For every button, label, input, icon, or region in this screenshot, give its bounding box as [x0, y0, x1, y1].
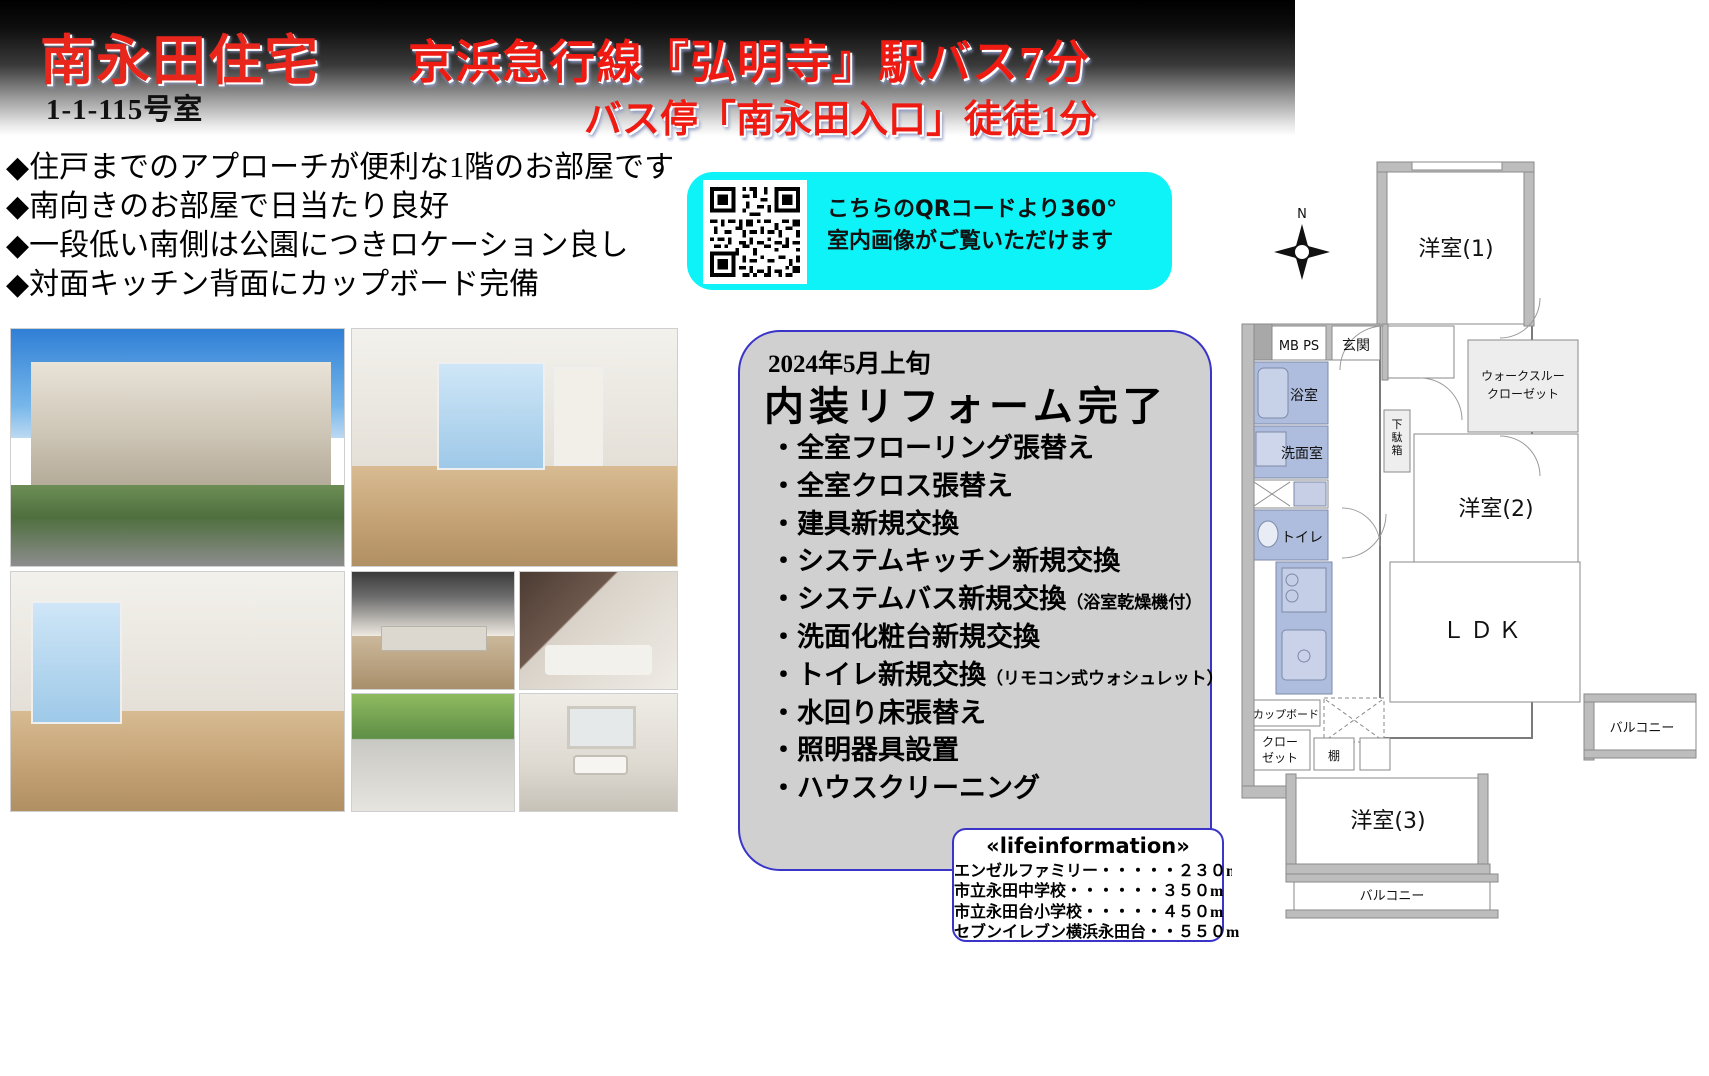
label-mb-ps: MB PS [1279, 339, 1319, 354]
access-line-2: バス停「南永田入口」徒徒1分 [584, 88, 1097, 143]
photo-washbasin-vanity[interactable] [519, 693, 678, 812]
reform-item-text: 全室クロス張替え [797, 471, 1013, 501]
access-line-1: 京浜急行線『弘明寺』駅バス7分 [408, 26, 1090, 92]
reform-item-text: システムキッチン新規交換 [797, 546, 1120, 576]
reform-item-text: 全室フローリング張替え [797, 433, 1094, 463]
qr-callout-box[interactable]: こちらのQRコードより360° 室内画像がご覧いただけます [687, 172, 1172, 290]
reform-item-text: システムバス新規交換 [797, 584, 1066, 614]
label-room-3: 洋室(3) [1350, 809, 1425, 834]
label-closet-2: ゼット [1262, 751, 1298, 765]
reform-item-list: ・全室フローリング張替え ・全室クロス張替え ・建具新規交換 ・システムキッチン… [770, 430, 1202, 808]
reform-item-note: （浴室乾燥機付） [1066, 593, 1202, 612]
photo-system-bath[interactable] [519, 571, 678, 690]
label-shelf: 棚 [1328, 748, 1340, 763]
life-information-title: «lifeinformation» [954, 834, 1222, 858]
label-balcony-south: バルコニー [1360, 889, 1425, 904]
label-toilet: トイレ [1281, 530, 1323, 546]
feature-item: ◆対面キッチン背面にカップボード完備 [6, 265, 706, 304]
label-cupboard: カップボード [1253, 708, 1319, 721]
reform-item: ・システムキッチン新規交換 [770, 543, 1202, 581]
life-information-box: «lifeinformation» エンゼルファミリー・・・・・２３０m 市立永… [952, 828, 1224, 942]
life-information-row: 市立永田中学校・・・・・・３５０m [938, 882, 1238, 902]
reform-item: ・建具新規交換 [770, 506, 1202, 544]
reform-item-text: 建具新規交換 [797, 509, 959, 539]
label-entrance: 玄関 [1342, 337, 1370, 354]
label-room-1: 洋室(1) [1418, 237, 1493, 262]
feature-item: ◆一段低い南側は公園につきロケーション良し [6, 226, 706, 265]
label-balcony-east: バルコニー [1610, 721, 1675, 736]
reform-item-text: 水回り床張替え [797, 698, 986, 728]
photo-balcony-view[interactable] [351, 693, 515, 812]
header-banner: 南永田住宅 1‐1‐115号室 京浜急行線『弘明寺』駅バス7分 バス停「南永田入… [0, 0, 1295, 136]
label-closet-1: クロー [1262, 735, 1298, 749]
reform-item-text: トイレ新規交換 [797, 660, 986, 690]
feature-list: ◆住戸までのアプローチが便利な1階のお部屋です ◆南向きのお部屋で日当たり良好 … [6, 148, 706, 304]
photo-living-dining-room[interactable] [10, 571, 345, 812]
label-room-2: 洋室(2) [1458, 497, 1533, 522]
life-information-row: 市立永田台小学校・・・・・４５０m [938, 903, 1238, 923]
floor-plan[interactable]: N 洋室(1) 洋室(2) 洋室(3) ＬＤＫ MB PS 玄関 浴室 洗面室 … [1232, 138, 1702, 928]
reform-item-text: 洗面化粧台新規交換 [797, 622, 1040, 652]
compass-north-label: N [1297, 207, 1307, 222]
label-washroom: 洗面室 [1281, 445, 1323, 462]
qr-code-icon[interactable] [703, 180, 807, 284]
compass-rose: N [1274, 207, 1330, 280]
reform-title: 内装リフォーム完了 [764, 374, 1168, 432]
qr-text-line-2: 室内画像がご覧いただけます [827, 226, 1117, 258]
reform-item: ・ハウスクリーニング [770, 770, 1202, 808]
room-number: 1‐1‐115号室 [46, 86, 203, 128]
label-shoe-cabinet: 下駄箱 [1392, 418, 1403, 457]
reform-item-text: 照明器具設置 [797, 735, 959, 765]
reform-item-text: ハウスクリーニング [797, 773, 1040, 803]
reform-item: ・照明器具設置 [770, 732, 1202, 770]
feature-item: ◆住戸までのアプローチが便利な1階のお部屋です [6, 148, 706, 187]
photo-exterior-building[interactable] [10, 328, 345, 567]
building-name: 南永田住宅 [40, 16, 320, 95]
life-information-list: エンゼルファミリー・・・・・２３０m 市立永田中学校・・・・・・３５０m 市立永… [938, 862, 1238, 944]
photo-system-kitchen[interactable] [351, 571, 515, 690]
feature-item: ◆南向きのお部屋で日当たり良好 [6, 187, 706, 226]
label-ldk: ＬＤＫ [1442, 618, 1526, 644]
reform-item: ・全室クロス張替え [770, 468, 1202, 506]
reform-item: ・システムバス新規交換（浴室乾燥機付） [770, 581, 1202, 619]
reform-item: ・トイレ新規交換（リモコン式ウォシュレット） [770, 657, 1202, 695]
life-information-row: セブンイレブン横浜永田台・・５５０m [938, 923, 1238, 943]
reform-item: ・洗面化粧台新規交換 [770, 619, 1202, 657]
photo-living-room-window[interactable] [351, 328, 678, 567]
life-information-row: エンゼルファミリー・・・・・２３０m [938, 862, 1238, 882]
label-walkthrough-closet-2: クローゼット [1487, 387, 1559, 401]
label-walkthrough-closet-1: ウォークスルー [1481, 369, 1565, 383]
reform-item-note: （リモコン式ウォシュレット） [986, 669, 1224, 688]
qr-callout-text: こちらのQRコードより360° 室内画像がご覧いただけます [827, 194, 1117, 258]
reform-panel: 2024年5月上旬 内装リフォーム完了 ・全室フローリング張替え ・全室クロス張… [738, 330, 1212, 871]
reform-item: ・水回り床張替え [770, 695, 1202, 733]
qr-text-line-1: こちらのQRコードより360° [827, 194, 1117, 226]
label-bathroom: 浴室 [1290, 387, 1318, 404]
reform-item: ・全室フローリング張替え [770, 430, 1202, 468]
